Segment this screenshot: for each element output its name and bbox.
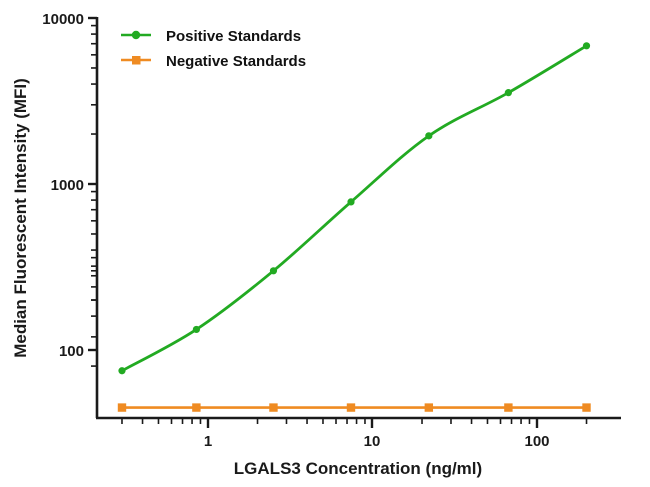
x-axis-title: LGALS3 Concentration (ng/ml) [234,459,482,478]
data-point[interactable] [347,403,355,411]
data-point[interactable] [583,42,590,49]
legend-label-negative: Negative Standards [166,53,306,70]
data-point[interactable] [192,403,200,411]
y-tick-label-1000: 1000 [51,177,84,194]
data-point[interactable] [505,89,512,96]
y-axis-title: Median Fluorescent Intensity (MFI) [11,78,30,358]
y-tick-label-10000: 10000 [42,11,84,28]
legend-item-positive-standards[interactable]: Positive Standards [121,28,301,45]
legend-label-positive: Positive Standards [166,28,301,45]
data-point[interactable] [270,267,277,274]
data-point[interactable] [425,403,433,411]
legend-marker-circle-icon [132,31,140,39]
data-point[interactable] [118,367,125,374]
data-point[interactable] [118,403,126,411]
data-series-layer [118,42,591,412]
series-negative-standards [118,403,591,411]
y-tick-label-100: 100 [59,343,84,360]
axis-lines [96,17,621,418]
x-tick-label-1: 1 [204,433,212,450]
data-point[interactable] [193,326,200,333]
data-point[interactable] [269,403,277,411]
x-tick-label-10: 10 [364,433,381,450]
legend-marker-square-icon [132,56,141,65]
data-point[interactable] [582,403,590,411]
chart-legend: Positive Standards Negative Standards [121,28,306,70]
series-positive-standards [118,42,590,374]
data-point[interactable] [504,403,512,411]
x-tick-label-100: 100 [524,433,549,450]
data-point[interactable] [425,132,432,139]
series-line [122,46,587,371]
data-point[interactable] [347,198,354,205]
chart-container: 10000 1000 100 1 10 100 LGALS3 Concentra… [0,0,650,487]
legend-item-negative-standards[interactable]: Negative Standards [121,53,306,70]
chart-plot-area: 10000 1000 100 1 10 100 LGALS3 Concentra… [0,0,650,487]
